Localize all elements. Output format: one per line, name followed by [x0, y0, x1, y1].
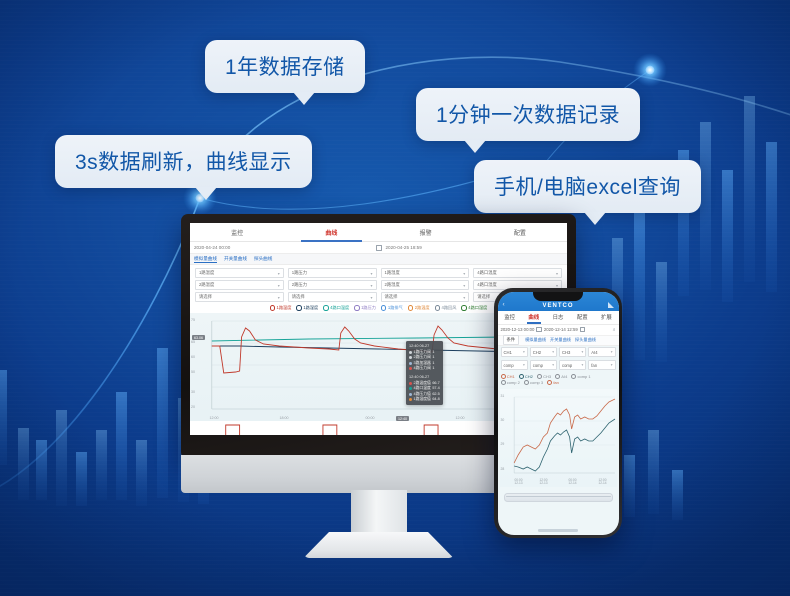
- legend-label: 4路回风: [441, 305, 456, 311]
- select-value: CH3: [562, 350, 570, 355]
- chart-tooltip: 12:40 06-27 1路压力阀1 2路压力阀1 3路加湿器1 4路压力阀1 …: [406, 341, 443, 405]
- legend-swatch: [555, 374, 560, 379]
- tooltip-swatch: [409, 382, 412, 385]
- date-from-field[interactable]: 2020-04-24 00:00: [194, 245, 230, 250]
- filter-probe[interactable]: 探头曲线: [254, 256, 272, 262]
- x-tick: 18:00: [272, 416, 296, 420]
- legend-swatch: [270, 305, 275, 310]
- select-value: comp: [504, 363, 514, 368]
- select-value: 4路口温度: [477, 270, 497, 276]
- tooltip-value: 64.8: [432, 397, 439, 403]
- tab-monitor[interactable]: 监控: [190, 223, 284, 241]
- channel-select[interactable]: 2路湿度▾: [381, 280, 470, 290]
- chevron-left-icon[interactable]: ‹: [503, 302, 505, 309]
- channel-select[interactable]: comp▾: [501, 360, 528, 370]
- date-to-field[interactable]: 2020-04-25 18:59: [386, 245, 422, 250]
- phone-selector-row-1: CH1▾ CH2▾ CH3▾ AI4▾: [498, 346, 619, 359]
- channel-select[interactable]: 1路压力▾: [288, 268, 377, 278]
- y-tick: 30: [191, 390, 195, 394]
- callout-text: 手机/电脑excel查询: [494, 176, 681, 199]
- legend-item[interactable]: 1路排气: [381, 305, 403, 311]
- channel-select[interactable]: CH1▾: [501, 347, 528, 357]
- legend-label: comp 3: [530, 380, 543, 385]
- tab-label: 监控: [231, 228, 243, 237]
- select-value: 请选择: [477, 294, 490, 300]
- legend-label: 1路排气: [388, 305, 403, 311]
- select-value: 请选择: [199, 294, 212, 300]
- tooltip-swatch: [409, 351, 412, 354]
- legend-swatch: [435, 305, 440, 310]
- select-value: comp: [533, 363, 543, 368]
- phone-chart-legend: CH1 CH2 CH3 AI4 comp 1 comp 2 comp 3 fan: [498, 372, 619, 388]
- search-icon[interactable]: ⌕: [613, 327, 616, 333]
- date-from-field[interactable]: 2020-12-13 00:00: [501, 327, 535, 332]
- tab-label: 日志: [553, 313, 564, 321]
- phone-tab-log[interactable]: 日志: [546, 311, 570, 324]
- tooltip-row: 1路湿度值64.8: [409, 397, 440, 403]
- desktop-tabbar: 监控 曲线 报警 配置: [190, 223, 567, 242]
- x-tick: 12:00 12-13: [533, 479, 555, 486]
- y-tick: 50: [191, 370, 195, 374]
- callout-text: 3s数据刷新，曲线显示: [75, 151, 292, 174]
- tooltip-time: 12:40 06-27: [409, 375, 440, 381]
- channel-select[interactable]: comp▾: [530, 360, 557, 370]
- legend-item[interactable]: CH2: [519, 374, 533, 379]
- phone-selector-row-2: comp▾ comp▾ comp▾ fan▾: [498, 359, 619, 372]
- legend-label: CH1: [507, 374, 515, 379]
- legend-label: 4路口湿度: [468, 305, 487, 311]
- chevron-down-icon: ▾: [523, 363, 525, 367]
- tooltip-swatch: [409, 367, 412, 370]
- chevron-down-icon: ▾: [278, 283, 280, 288]
- chevron-down-icon: ▾: [370, 283, 372, 288]
- chevron-down-icon: ▾: [611, 363, 613, 367]
- legend-swatch: [381, 305, 386, 310]
- legend-item[interactable]: 4路口温度: [323, 305, 349, 311]
- legend-item[interactable]: fan: [547, 380, 559, 385]
- legend-label: fan: [553, 380, 559, 385]
- filter-condition[interactable]: 条件: [503, 335, 520, 345]
- phone-body: ‹ VENTCO 监控 曲线 日志 配置 扩展 2020-12-13 00:00…: [494, 288, 622, 538]
- y-tick: 75: [191, 318, 195, 322]
- phone-tabbar: 监控 曲线 日志 配置 扩展: [498, 311, 619, 325]
- calendar-icon[interactable]: [536, 327, 541, 332]
- channel-select[interactable]: 4路口温度▾: [473, 268, 562, 278]
- legend-item[interactable]: 4路回风: [435, 305, 457, 311]
- phone-tab-extend[interactable]: 扩展: [594, 311, 618, 324]
- phone-date-range: 2020-12-13 00:00 2020-12-14 12:59 ⌕: [498, 325, 619, 336]
- phone-chart[interactable]: 31 30 29 28 00:00 12-13 12:00 12-13 00:0…: [500, 389, 617, 487]
- phone-tab-config[interactable]: 配置: [570, 311, 594, 324]
- select-value: 1路湿度: [385, 270, 400, 276]
- x-tick: 00:00 12-13: [508, 479, 530, 486]
- chevron-down-icon: ▾: [463, 271, 465, 276]
- x-tick: 00:00: [358, 416, 382, 420]
- legend-label: 1路温度: [277, 305, 292, 311]
- tooltip-swatch: [409, 362, 412, 365]
- filter-digital[interactable]: 开关量曲线: [224, 256, 247, 262]
- legend-item[interactable]: CH3: [537, 374, 551, 379]
- tooltip-value: 1: [432, 366, 434, 372]
- select-value: 请选择: [385, 294, 398, 300]
- bubble-tail: [464, 140, 486, 153]
- channel-select[interactable]: AI4▾: [588, 347, 615, 357]
- phone-tab-monitor[interactable]: 监控: [498, 311, 522, 324]
- home-indicator: [538, 529, 578, 531]
- chevron-down-icon: ▾: [556, 271, 558, 276]
- monitor-neck: [351, 490, 407, 534]
- channel-select[interactable]: comp▾: [559, 360, 586, 370]
- legend-label: AI4: [561, 374, 567, 379]
- chevron-down-icon: ▾: [463, 295, 465, 300]
- calendar-icon[interactable]: [580, 327, 585, 332]
- mobile-phone: ‹ VENTCO 监控 曲线 日志 配置 扩展 2020-12-13 00:00…: [494, 288, 622, 538]
- tab-label: 扩展: [601, 313, 612, 321]
- phone-filter-row: 条件 模拟量曲线 开关量曲线 探头量曲线: [498, 336, 619, 346]
- x-tick-date: 12-13: [514, 481, 522, 485]
- legend-swatch: [571, 374, 576, 379]
- chevron-down-icon: ▾: [611, 350, 613, 354]
- y-tick: 29: [501, 442, 505, 446]
- legend-label: 2路温度: [415, 305, 430, 311]
- callout-text: 1年数据存储: [225, 56, 345, 79]
- channel-select[interactable]: 1路温度▾: [195, 268, 284, 278]
- legend-item[interactable]: 1路湿度: [296, 305, 318, 311]
- x-tick: 12:00: [202, 416, 226, 420]
- select-value: 2路湿度: [385, 282, 400, 288]
- legend-label: 1路压力: [361, 305, 376, 311]
- legend-swatch: [524, 380, 529, 385]
- tab-label: 监控: [504, 313, 515, 321]
- y-tick: 20: [191, 405, 195, 409]
- legend-swatch: [323, 305, 328, 310]
- select-value: 1路温度: [199, 270, 214, 276]
- channel-select[interactable]: 2路温度▾: [195, 280, 284, 290]
- channel-select[interactable]: 请选择▾: [288, 292, 377, 302]
- legend-swatch: [461, 305, 466, 310]
- tooltip-swatch: [409, 393, 412, 396]
- date-range-row: 2020-04-24 00:00 2020-04-25 18:59: [190, 242, 567, 254]
- phone-notch: [533, 292, 583, 301]
- chevron-down-icon: ▾: [552, 350, 554, 354]
- signal-icon: [608, 302, 614, 308]
- tooltip-time: 12:40 06-27: [409, 344, 440, 350]
- y-tick: 60: [191, 355, 195, 359]
- poster-stage: 1年数据存储 1分钟一次数据记录 3s数据刷新，曲线显示 手机/电脑excel查…: [0, 0, 790, 596]
- tab-label: 配置: [577, 313, 588, 321]
- channel-select[interactable]: CH2▾: [530, 347, 557, 357]
- y-tick: 28: [501, 467, 505, 471]
- y-tick: 30: [501, 418, 505, 422]
- bubble-tail: [195, 187, 217, 200]
- select-value: AI4: [591, 350, 597, 355]
- legend-item[interactable]: AI4: [555, 374, 567, 379]
- legend-item[interactable]: 4路口湿度: [461, 305, 487, 311]
- tab-config[interactable]: 配置: [473, 223, 567, 241]
- legend-swatch: [501, 380, 506, 385]
- legend-label: CH2: [525, 374, 533, 379]
- x-tick: 12:00 12-14: [592, 479, 614, 486]
- chevron-down-icon: ▾: [523, 350, 525, 354]
- tooltip-swatch: [409, 398, 412, 401]
- chevron-down-icon: ▾: [581, 350, 583, 354]
- x-tick: 00:00 12-14: [562, 479, 584, 486]
- legend-item[interactable]: 1路压力: [354, 305, 376, 311]
- bubble-tail: [293, 92, 315, 105]
- legend-label: 1路湿度: [303, 305, 318, 311]
- filter-digital[interactable]: 开关量曲线: [550, 337, 571, 343]
- select-value: 2路压力: [292, 282, 307, 288]
- channel-select[interactable]: 请选择▾: [195, 292, 284, 302]
- channel-select[interactable]: 请选择▾: [381, 292, 470, 302]
- legend-label: 4路口温度: [330, 305, 349, 311]
- x-tick: 12:00: [448, 416, 472, 420]
- channel-select[interactable]: CH3▾: [559, 347, 586, 357]
- tab-curve[interactable]: 曲线: [284, 223, 378, 241]
- callout-bubble-refresh: 3s数据刷新，曲线显示: [55, 135, 312, 188]
- legend-label: comp 2: [507, 380, 520, 385]
- channel-select[interactable]: fan▾: [588, 360, 615, 370]
- channel-select[interactable]: 2路压力▾: [288, 280, 377, 290]
- tab-alarm[interactable]: 报警: [379, 223, 473, 241]
- legend-item[interactable]: 1路温度: [270, 305, 292, 311]
- channel-select[interactable]: 1路湿度▾: [381, 268, 470, 278]
- callout-bubble-storage: 1年数据存储: [205, 40, 365, 93]
- filter-analog[interactable]: 模拟量曲线: [525, 337, 546, 343]
- callout-bubble-logging: 1分钟一次数据记录: [416, 88, 640, 141]
- select-value: 请选择: [292, 294, 305, 300]
- legend-item[interactable]: comp 3: [524, 380, 543, 385]
- calendar-icon[interactable]: [376, 245, 382, 251]
- legend-item[interactable]: comp 2: [501, 380, 520, 385]
- legend-swatch: [354, 305, 359, 310]
- chart-range-slider[interactable]: [504, 493, 613, 502]
- chevron-down-icon: ▾: [370, 295, 372, 300]
- app-title: VENTCO: [542, 303, 573, 309]
- monitor-foot: [304, 532, 454, 558]
- legend-swatch: [408, 305, 413, 310]
- y-tick: 65: [191, 340, 195, 344]
- legend-label: comp 1: [578, 374, 591, 379]
- tab-label: 报警: [420, 228, 432, 237]
- legend-swatch: [501, 374, 506, 379]
- tooltip-swatch: [409, 387, 412, 390]
- y-cursor-badge: 63.06: [192, 335, 205, 340]
- phone-tab-curve[interactable]: 曲线: [522, 311, 546, 324]
- select-value: CH2: [533, 350, 541, 355]
- legend-item[interactable]: 2路温度: [408, 305, 430, 311]
- callout-text: 1分钟一次数据记录: [436, 104, 620, 127]
- date-to-field[interactable]: 2020-12-14 12:59: [544, 327, 578, 332]
- filter-tabs: 模拟量曲线 开关量曲线 探头曲线: [190, 254, 567, 265]
- select-value: 1路压力: [292, 270, 307, 276]
- chevron-down-icon: ▾: [278, 295, 280, 300]
- tooltip-label: 1路湿度值: [414, 397, 431, 403]
- y-tick: 31: [501, 394, 505, 398]
- legend-row: CH1 CH2 CH3 AI4 comp 1: [501, 374, 616, 379]
- tab-label: 曲线: [528, 313, 539, 321]
- filter-probe[interactable]: 探头量曲线: [575, 337, 596, 343]
- tooltip-swatch: [409, 356, 412, 359]
- select-value: CH1: [504, 350, 512, 355]
- chevron-down-icon: ▾: [370, 271, 372, 276]
- chevron-down-icon: ▾: [581, 363, 583, 367]
- x-tick-date: 12-14: [598, 481, 606, 485]
- select-value: comp: [562, 363, 572, 368]
- legend-swatch: [537, 374, 542, 379]
- x-tick-date: 12-13: [539, 481, 547, 485]
- legend-item[interactable]: CH1: [501, 374, 515, 379]
- tab-label: 配置: [514, 228, 526, 237]
- chevron-down-icon: ▾: [556, 283, 558, 288]
- legend-swatch: [547, 380, 552, 385]
- chevron-down-icon: ▾: [463, 283, 465, 288]
- bubble-tail: [584, 212, 606, 225]
- phone-chart-svg: [500, 389, 617, 487]
- legend-row: comp 2 comp 3 fan: [501, 380, 616, 385]
- legend-label: CH3: [543, 374, 551, 379]
- callout-bubble-excel: 手机/电脑excel查询: [474, 160, 701, 213]
- chevron-down-icon: ▾: [278, 271, 280, 276]
- select-value: fan: [591, 363, 597, 368]
- x-tick-date: 12-14: [568, 481, 576, 485]
- chevron-down-icon: ▾: [552, 363, 554, 367]
- legend-item[interactable]: comp 1: [571, 374, 590, 379]
- tooltip-label: 4路压力阀: [414, 366, 431, 372]
- phone-screen: ‹ VENTCO 监控 曲线 日志 配置 扩展 2020-12-13 00:00…: [498, 292, 619, 535]
- tab-label: 曲线: [325, 228, 337, 237]
- select-value: 2路温度: [199, 282, 214, 288]
- legend-swatch: [296, 305, 301, 310]
- legend-swatch: [519, 374, 524, 379]
- filter-analog[interactable]: 模拟量曲线: [194, 256, 217, 263]
